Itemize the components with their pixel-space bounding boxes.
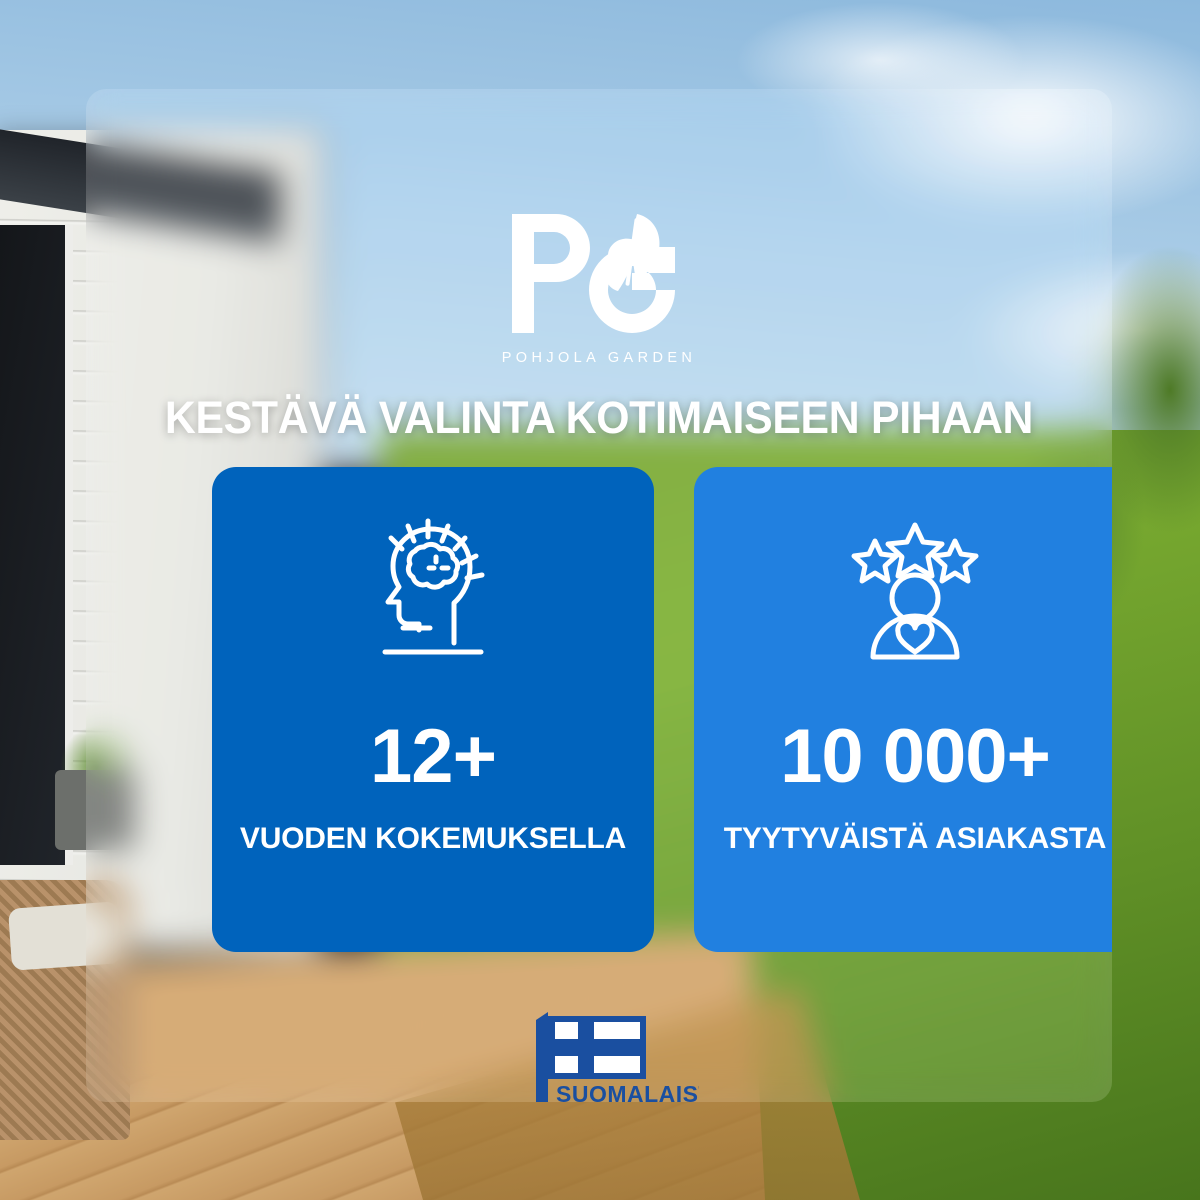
page-title: KESTÄVÄ VALINTA KOTIMAISEEN PIHAAN — [112, 392, 1087, 444]
head-with-brain-idea-icon — [358, 515, 508, 665]
frosted-content-panel: POHJOLA GARDEN KESTÄVÄ VALINTA KOTIMAISE… — [86, 89, 1112, 1102]
avainlippu-badge: ® SUOMALAISTA PALVELUA — [499, 1002, 699, 1102]
brand-logo: POHJOLA GARDEN — [86, 206, 1112, 366]
customer-with-stars-heart-icon — [840, 515, 990, 665]
stat-number: 12+ — [370, 719, 496, 795]
key-flag-icon: ® SUOMALAISTA PALVELUA — [499, 1002, 699, 1102]
logo-wordmark: POHJOLA GARDEN — [502, 350, 697, 366]
certification-line1: SUOMALAISTA — [556, 1081, 699, 1102]
pg-monogram-icon — [504, 206, 694, 341]
stat-card-group: 12+ VUODEN KOKEMUKSELLA — [212, 467, 1112, 952]
stat-card-experience: 12+ VUODEN KOKEMUKSELLA — [212, 467, 654, 952]
marketing-graphic: POHJOLA GARDEN KESTÄVÄ VALINTA KOTIMAISE… — [0, 0, 1200, 1200]
stat-label: VUODEN KOKEMUKSELLA — [240, 822, 626, 856]
stat-card-customers: 10 000+ TYYTYVÄISTÄ ASIAKASTA — [694, 467, 1112, 952]
stat-label: TYYTYVÄISTÄ ASIAKASTA — [724, 822, 1107, 856]
stat-number: 10 000+ — [780, 719, 1050, 795]
